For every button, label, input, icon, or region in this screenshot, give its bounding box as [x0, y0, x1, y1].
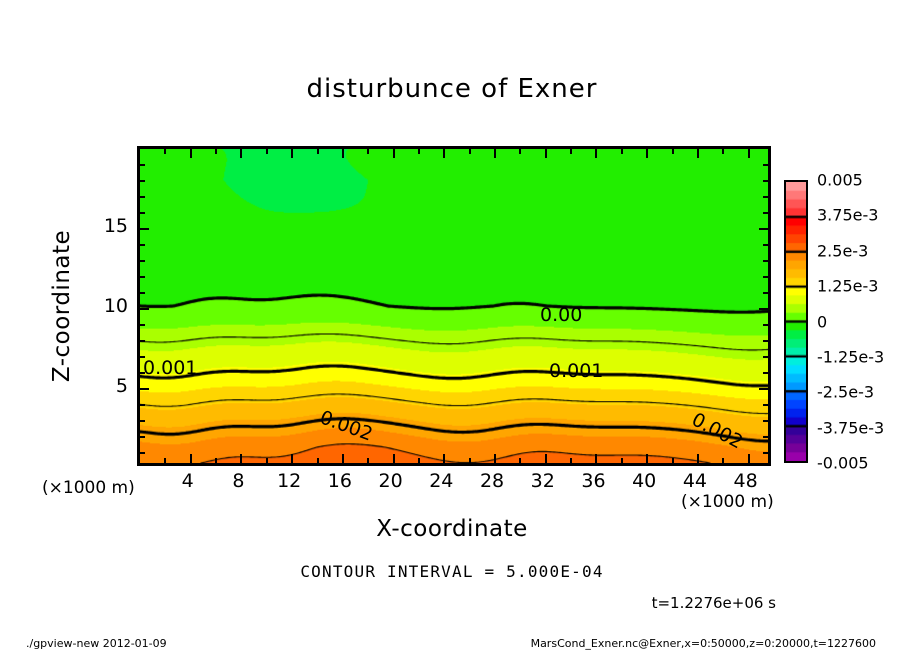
colorbar-tick-label: -3.75e-3 — [817, 418, 884, 437]
x-tick — [595, 149, 597, 158]
y-tick — [763, 436, 768, 438]
x-tick — [469, 149, 471, 154]
x-tick — [697, 454, 699, 463]
x-tick — [570, 149, 572, 154]
x-tick — [697, 149, 699, 158]
x-tick — [621, 458, 623, 463]
x-tick — [418, 458, 420, 463]
plot-area[interactable] — [137, 146, 771, 466]
x-tick — [722, 458, 724, 463]
y-tick — [763, 164, 768, 166]
y-tick — [759, 308, 768, 310]
x-tick — [519, 458, 521, 463]
y-tick — [140, 292, 145, 294]
x-tick — [240, 454, 242, 463]
x-tick — [722, 149, 724, 154]
x-tick — [672, 149, 674, 154]
contour-field-canvas — [140, 149, 768, 463]
x-tick-label: 24 — [429, 470, 453, 492]
contour-level-label: 0.001 — [549, 360, 603, 382]
footer-source: MarsCond_Exner.nc@Exner,x=0:50000,z=0:20… — [531, 637, 876, 650]
y-tick — [140, 324, 145, 326]
colorbar[interactable] — [784, 180, 808, 463]
y-tick — [140, 420, 145, 422]
colorbar-gradient — [784, 180, 808, 463]
y-tick — [140, 228, 149, 230]
y-tick — [763, 404, 768, 406]
y-tick — [763, 420, 768, 422]
x-tick — [494, 149, 496, 158]
x-tick — [418, 149, 420, 154]
x-tick — [672, 458, 674, 463]
contour-level-label: 0.001 — [143, 357, 197, 379]
x-tick — [317, 458, 319, 463]
y-tick-label: 5 — [116, 375, 128, 397]
x-tick — [190, 149, 192, 158]
x-tick-label: 28 — [480, 470, 504, 492]
x-tick — [342, 149, 344, 158]
x-tick-label: 16 — [328, 470, 352, 492]
colorbar-tick-label: -0.005 — [817, 454, 869, 473]
time-annotation: t=1.2276e+06 s — [652, 594, 776, 612]
y-tick — [140, 452, 145, 454]
x-tick — [748, 149, 750, 158]
x-tick — [393, 454, 395, 463]
x-tick — [545, 149, 547, 158]
x-axis-title: X-coordinate — [0, 516, 904, 542]
y-tick — [763, 340, 768, 342]
colorbar-tick-label: 1.25e-3 — [817, 277, 878, 296]
x-tick — [646, 454, 648, 463]
x-axis-units: (×1000 m) — [681, 492, 774, 512]
y-tick — [763, 324, 768, 326]
x-tick-label: 12 — [277, 470, 301, 492]
y-tick — [763, 180, 768, 182]
x-tick-label: 44 — [683, 470, 707, 492]
y-tick — [140, 340, 145, 342]
y-axis-units: (×1000 m) — [42, 478, 135, 498]
y-tick-label: 10 — [104, 295, 128, 317]
y-tick — [763, 372, 768, 374]
y-tick — [763, 212, 768, 214]
x-tick-label: 40 — [632, 470, 656, 492]
y-tick — [759, 388, 768, 390]
x-tick — [646, 149, 648, 158]
x-tick — [190, 454, 192, 463]
y-axis-title: Z-coordinate — [49, 230, 75, 382]
x-tick — [595, 454, 597, 463]
colorbar-tick-label: -1.25e-3 — [817, 347, 884, 366]
y-tick — [140, 388, 149, 390]
x-tick — [317, 149, 319, 154]
x-tick — [494, 454, 496, 463]
y-tick — [140, 276, 145, 278]
y-tick — [763, 276, 768, 278]
x-tick — [443, 149, 445, 158]
x-tick-label: 48 — [734, 470, 758, 492]
x-tick — [545, 454, 547, 463]
x-tick — [164, 149, 166, 154]
colorbar-tick-label: 3.75e-3 — [817, 206, 878, 225]
colorbar-tick-label: 0.005 — [817, 171, 863, 190]
x-tick — [621, 149, 623, 154]
y-tick — [140, 404, 145, 406]
y-tick-label: 15 — [104, 215, 128, 237]
contour-plot-page: disturbunce of Exner 4812162024283236404… — [0, 0, 904, 654]
x-tick — [367, 458, 369, 463]
x-tick-label: 36 — [581, 470, 605, 492]
y-tick — [140, 244, 145, 246]
x-tick — [367, 149, 369, 154]
x-tick — [342, 454, 344, 463]
x-tick — [215, 458, 217, 463]
colorbar-tick-label: 2.5e-3 — [817, 241, 868, 260]
y-tick — [140, 164, 145, 166]
y-tick — [763, 244, 768, 246]
colorbar-tick-label: -2.5e-3 — [817, 383, 874, 402]
colorbar-tick-label: 0 — [817, 312, 827, 331]
x-tick — [240, 149, 242, 158]
x-tick-label: 32 — [531, 470, 555, 492]
y-tick — [759, 228, 768, 230]
x-tick — [570, 458, 572, 463]
y-tick — [763, 452, 768, 454]
y-tick — [140, 212, 145, 214]
y-tick — [140, 180, 145, 182]
contour-level-label: 0.00 — [540, 304, 582, 326]
footer-command: ./gpview-new 2012-01-09 — [26, 637, 167, 650]
x-tick — [443, 454, 445, 463]
y-tick — [140, 436, 145, 438]
x-tick-label: 20 — [379, 470, 403, 492]
y-tick — [763, 260, 768, 262]
x-tick — [266, 458, 268, 463]
x-tick-label: 8 — [232, 470, 244, 492]
x-tick — [748, 454, 750, 463]
y-tick — [140, 260, 145, 262]
contour-interval-note: CONTOUR INTERVAL = 5.000E-04 — [0, 562, 904, 581]
x-tick — [469, 458, 471, 463]
y-tick — [763, 292, 768, 294]
y-tick — [763, 356, 768, 358]
x-tick — [291, 149, 293, 158]
y-tick — [140, 308, 149, 310]
x-tick — [266, 149, 268, 154]
x-tick-label: 4 — [182, 470, 194, 492]
y-tick — [140, 196, 145, 198]
x-tick — [393, 149, 395, 158]
page-title: disturbunce of Exner — [0, 74, 904, 104]
x-tick — [215, 149, 217, 154]
x-tick — [164, 458, 166, 463]
x-tick — [519, 149, 521, 154]
x-tick — [291, 454, 293, 463]
y-tick — [763, 196, 768, 198]
